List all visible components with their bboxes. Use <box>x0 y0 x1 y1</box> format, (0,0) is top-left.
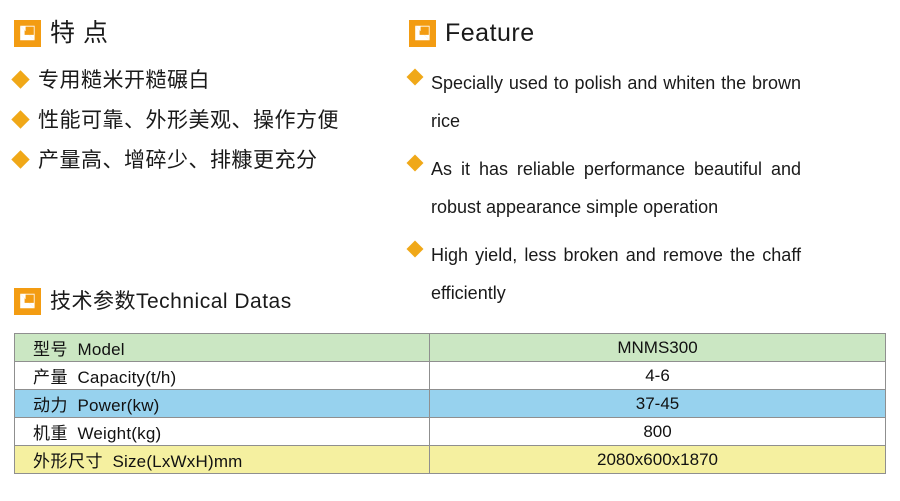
features-chinese-list: 专用糙米开糙碾白 性能可靠、外形美观、操作方便 产量高、增碎少、排糠更充分 <box>14 66 404 175</box>
features-chinese-title: 特 点 <box>50 21 108 46</box>
list-item: 性能可靠、外形美观、操作方便 <box>14 106 404 135</box>
list-item-label: High yield, less broken and remove the c… <box>431 236 801 312</box>
diamond-bullet-icon <box>11 150 29 168</box>
list-item: Specially used to polish and whiten the … <box>409 64 809 140</box>
features-chinese-header: 特 点 <box>14 20 404 47</box>
features-english-header: Feature <box>409 20 809 47</box>
list-item-label: Specially used to polish and whiten the … <box>431 64 801 140</box>
label-english: Model <box>77 340 124 359</box>
features-chinese-column: 特 点 专用糙米开糙碾白 性能可靠、外形美观、操作方便 产量高、增碎少、排糠更充… <box>14 20 404 186</box>
diamond-bullet-icon <box>407 155 424 172</box>
label-english: Capacity(t/h) <box>77 368 176 387</box>
technical-datas-title: 技术参数Technical Datas <box>50 291 292 312</box>
label-english: Size(LxWxH)mm <box>112 452 242 471</box>
list-item: 产量高、增碎少、排糠更充分 <box>14 146 404 175</box>
features-english-list: Specially used to polish and whiten the … <box>409 64 809 312</box>
table-cell-value: 37-45 <box>430 390 886 418</box>
table-row: 型号 Model MNMS300 <box>15 334 886 362</box>
label-chinese: 产量 <box>33 368 68 387</box>
table-cell-label: 动力 Power(kw) <box>15 390 430 418</box>
diamond-bullet-icon <box>407 241 424 258</box>
table-cell-value: 4-6 <box>430 362 886 390</box>
table-cell-value: 800 <box>430 418 886 446</box>
list-item: High yield, less broken and remove the c… <box>409 236 809 312</box>
table-cell-label: 产量 Capacity(t/h) <box>15 362 430 390</box>
features-english-column: Feature Specially used to polish and whi… <box>409 20 809 322</box>
technical-datas-header: 技术参数Technical Datas <box>14 288 292 315</box>
arrow-down-right-icon <box>14 288 41 315</box>
diamond-bullet-icon <box>11 110 29 128</box>
table-row: 外形尺寸 Size(LxWxH)mm 2080x600x1870 <box>15 446 886 474</box>
list-item-label: 专用糙米开糙碾白 <box>38 66 210 95</box>
table-row: 产量 Capacity(t/h) 4-6 <box>15 362 886 390</box>
label-english: Weight(kg) <box>77 424 161 443</box>
label-english: Power(kw) <box>77 396 159 415</box>
list-item: 专用糙米开糙碾白 <box>14 66 404 95</box>
list-item-label: As it has reliable performance beautiful… <box>431 150 801 226</box>
diamond-bullet-icon <box>407 69 424 86</box>
table-row: 机重 Weight(kg) 800 <box>15 418 886 446</box>
label-chinese: 型号 <box>33 340 68 359</box>
table-cell-value: MNMS300 <box>430 334 886 362</box>
arrow-down-right-icon <box>409 20 436 47</box>
label-chinese: 动力 <box>33 396 68 415</box>
label-chinese: 机重 <box>33 424 68 443</box>
table-cell-label: 外形尺寸 Size(LxWxH)mm <box>15 446 430 474</box>
list-item-label: 产量高、增碎少、排糠更充分 <box>38 146 318 175</box>
list-item-label: 性能可靠、外形美观、操作方便 <box>38 106 339 135</box>
table-cell-label: 型号 Model <box>15 334 430 362</box>
table-row: 动力 Power(kw) 37-45 <box>15 390 886 418</box>
table-cell-value: 2080x600x1870 <box>430 446 886 474</box>
arrow-down-right-icon <box>14 20 41 47</box>
features-english-title: Feature <box>445 21 535 46</box>
label-chinese: 外形尺寸 <box>33 452 103 471</box>
diamond-bullet-icon <box>11 70 29 88</box>
specifications-table: 型号 Model MNMS300 产量 Capacity(t/h) 4-6 动力… <box>14 333 886 474</box>
table-cell-label: 机重 Weight(kg) <box>15 418 430 446</box>
list-item: As it has reliable performance beautiful… <box>409 150 809 226</box>
